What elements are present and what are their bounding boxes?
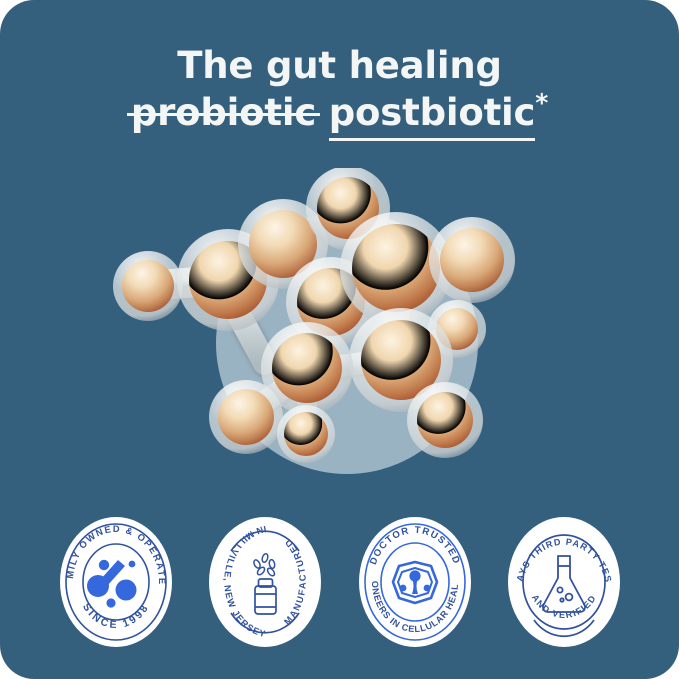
teal-panel: The gut healing probiotic postbiotic* [0,0,679,679]
trust-badge-row: FAMILY OWNED & OPERATED SINCE 1998 [52,507,628,657]
asterisk-mark: * [535,89,548,118]
badge-plate [508,517,620,647]
molecule-spheres [113,168,515,463]
badge-doctor-trusted[interactable]: DOCTOR TRUSTED PIONEERS IN CELLULAR HEAL… [351,508,479,656]
badge-family-owned-graphic: FAMILY OWNED & OPERATED SINCE 1998 [52,508,180,656]
badge-third-party-tested-graphic: ALWAYS THIRD PARTY TESTED AND VERIFIED [500,508,628,656]
badge-manufactured-nj-graphic: MANUFACTURED IN MILLVILLE, NEW JERSEY [201,508,329,656]
headline-line-1: The gut healing [0,42,679,89]
badge-doctor-trusted-graphic: DOCTOR TRUSTED PIONEERS IN CELLULAR HEAL… [351,508,479,656]
strikethrough-word: probiotic [131,89,316,136]
badge-family-owned[interactable]: FAMILY OWNED & OPERATED SINCE 1998 [52,508,180,656]
hero-illustration [100,168,520,488]
molecule-graphic [100,168,520,488]
badge-third-party-tested[interactable]: ALWAYS THIRD PARTY TESTED AND VERIFIED [500,508,628,656]
headline-line-2: probiotic postbiotic* [0,89,679,136]
emphasized-word: postbiotic [329,89,536,136]
badge-manufactured-nj[interactable]: MANUFACTURED IN MILLVILLE, NEW JERSEY [201,508,329,656]
product-graphic-canvas: The gut healing probiotic postbiotic* [0,0,679,679]
page-title: The gut healing probiotic postbiotic* [0,42,679,136]
